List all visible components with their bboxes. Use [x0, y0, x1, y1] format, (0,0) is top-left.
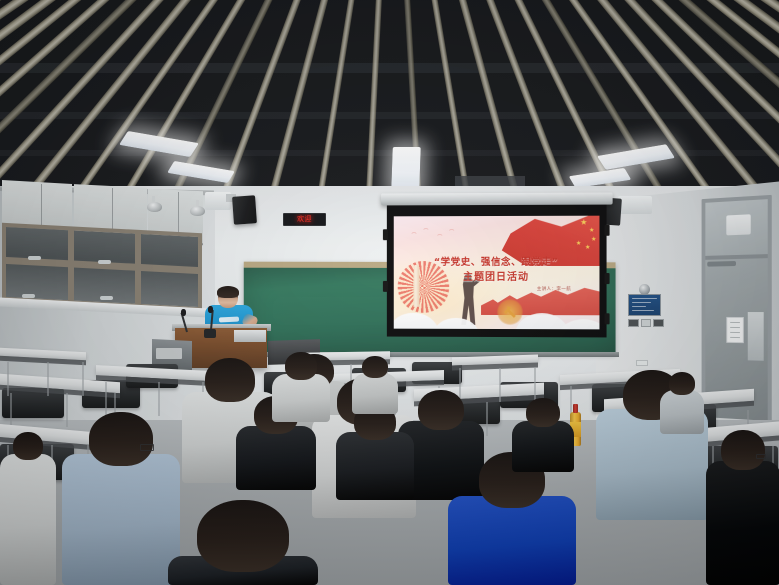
air-conditioner	[618, 196, 652, 214]
flag-star-icon: ★	[589, 228, 594, 234]
window-handle[interactable]	[28, 256, 41, 260]
notice-line	[730, 332, 740, 333]
student-torso	[448, 496, 576, 585]
ceiling	[0, 0, 779, 205]
student-torso	[62, 454, 180, 585]
student-torso	[660, 390, 704, 434]
window-handle[interactable]	[100, 296, 113, 300]
student-left-edge-white	[0, 432, 56, 585]
console-faceplate[interactable]	[156, 348, 182, 359]
desk-leg	[7, 362, 9, 396]
corridor-box	[726, 214, 750, 235]
desk-leg	[499, 368, 501, 402]
presentation-slide: ★ ★ ★ ★ ★ ︵ ︵ ︵ ︵ “学党史、强信念、跟党走” 主题团	[394, 216, 600, 330]
shirt-logo	[219, 316, 239, 322]
student-row4-right-dark	[512, 398, 574, 472]
flag-star-icon: ★	[576, 241, 581, 247]
plaque-line	[632, 298, 657, 300]
light-switch[interactable]	[653, 319, 664, 327]
student-torso	[352, 373, 398, 414]
student-front-left-lightblue	[62, 412, 180, 585]
ceiling-slat	[258, 0, 329, 205]
microphone-head	[181, 309, 186, 316]
student-head	[89, 412, 153, 466]
ceiling-light-panel	[391, 147, 421, 190]
ceiling-slat	[29, 0, 192, 193]
window-mullion	[68, 228, 74, 308]
desk-leg	[82, 362, 84, 396]
laptop[interactable]	[234, 330, 266, 342]
plaque-line	[632, 306, 646, 308]
student-torso	[236, 426, 316, 490]
led-display: 欢迎	[283, 213, 326, 226]
light-switch[interactable]	[641, 319, 652, 327]
student-torso	[336, 432, 414, 500]
plaque-line	[632, 302, 651, 304]
slide-title: “学党史、强信念、跟党走”	[394, 254, 600, 268]
glass-entry-door[interactable]	[702, 195, 772, 421]
party-emblem-icon	[497, 299, 523, 325]
dome-camera-icon	[190, 206, 205, 216]
flag-star-icon: ★	[591, 237, 596, 243]
student-far-right-black	[706, 430, 779, 585]
notice-line	[730, 322, 740, 323]
notice-line	[730, 337, 740, 338]
student-back-row-small	[352, 356, 398, 414]
student-head	[526, 398, 560, 427]
student-front-center-dark	[168, 500, 318, 585]
door-notice	[726, 317, 744, 343]
desk-leg	[47, 362, 49, 396]
student-head	[669, 372, 695, 395]
light-switch[interactable]	[628, 319, 639, 327]
door-closer	[707, 261, 736, 267]
student-head	[418, 390, 464, 430]
desk-leg	[10, 393, 12, 427]
screen-clip	[605, 273, 610, 284]
bird-icon: ︵	[437, 232, 442, 237]
student-head	[197, 500, 289, 572]
window-handle[interactable]	[98, 260, 111, 264]
screen-clip	[383, 229, 388, 240]
bird-icon: ︵	[412, 230, 417, 235]
projection-screen: ★ ★ ★ ★ ★ ︵ ︵ ︵ ︵ “学党史、强信念、跟党走” 主题团	[387, 203, 607, 338]
slide-subtitle: 主题团日活动	[394, 268, 600, 283]
screen-casing[interactable]	[381, 192, 613, 205]
eyeglasses-icon	[140, 444, 154, 450]
student-head	[285, 352, 317, 380]
ceiling-slat	[364, 0, 383, 205]
classroom-photo: 欢迎 ★	[0, 0, 779, 585]
window-handle[interactable]	[22, 294, 35, 298]
notice-line	[730, 327, 740, 328]
desk-leg	[158, 382, 160, 416]
desk-leg	[105, 382, 107, 416]
cloud-graphic	[394, 313, 440, 330]
screen-clip	[605, 225, 610, 236]
dome-camera-icon	[147, 202, 162, 212]
student-right-back-small	[660, 372, 704, 434]
light-switch-panel[interactable]	[628, 319, 664, 327]
bird-icon: ︵	[423, 226, 428, 231]
student-head	[13, 432, 43, 460]
student-row1-white-far	[272, 352, 330, 422]
ceiling-slat	[458, 0, 530, 205]
microphone-base	[204, 329, 216, 338]
student-torso	[706, 461, 779, 585]
screen-clip	[383, 281, 388, 292]
desk-leg	[534, 368, 536, 402]
slide-byline: 主讲人：李一航	[537, 286, 571, 292]
student-torso	[272, 374, 330, 422]
information-plaque	[628, 294, 661, 316]
student-torso	[512, 421, 574, 472]
microphone-head	[208, 306, 213, 313]
student-torso	[0, 454, 56, 585]
screen-clip	[605, 313, 610, 324]
presenter-hair	[217, 286, 239, 298]
bird-icon: ︵	[449, 227, 454, 232]
student-row2-center-dark	[336, 404, 414, 500]
corridor-panel	[748, 312, 764, 361]
cloud-graphic	[559, 319, 599, 329]
door-transom-window	[705, 199, 767, 260]
wall-speaker	[232, 195, 257, 225]
screen-border: ★ ★ ★ ★ ★ ︵ ︵ ︵ ︵ “学党史、强信念、跟党走” 主题团	[387, 205, 607, 338]
student-head	[362, 356, 388, 378]
wall-socket[interactable]	[636, 360, 648, 366]
flag-star-icon: ★	[580, 220, 587, 226]
led-display-text: 欢迎	[284, 214, 325, 225]
desk-leg	[486, 402, 488, 436]
eyeglasses-icon	[756, 454, 766, 459]
plaque-line	[632, 310, 654, 312]
student-head	[721, 430, 765, 470]
flag-star-icon: ★	[585, 245, 590, 251]
